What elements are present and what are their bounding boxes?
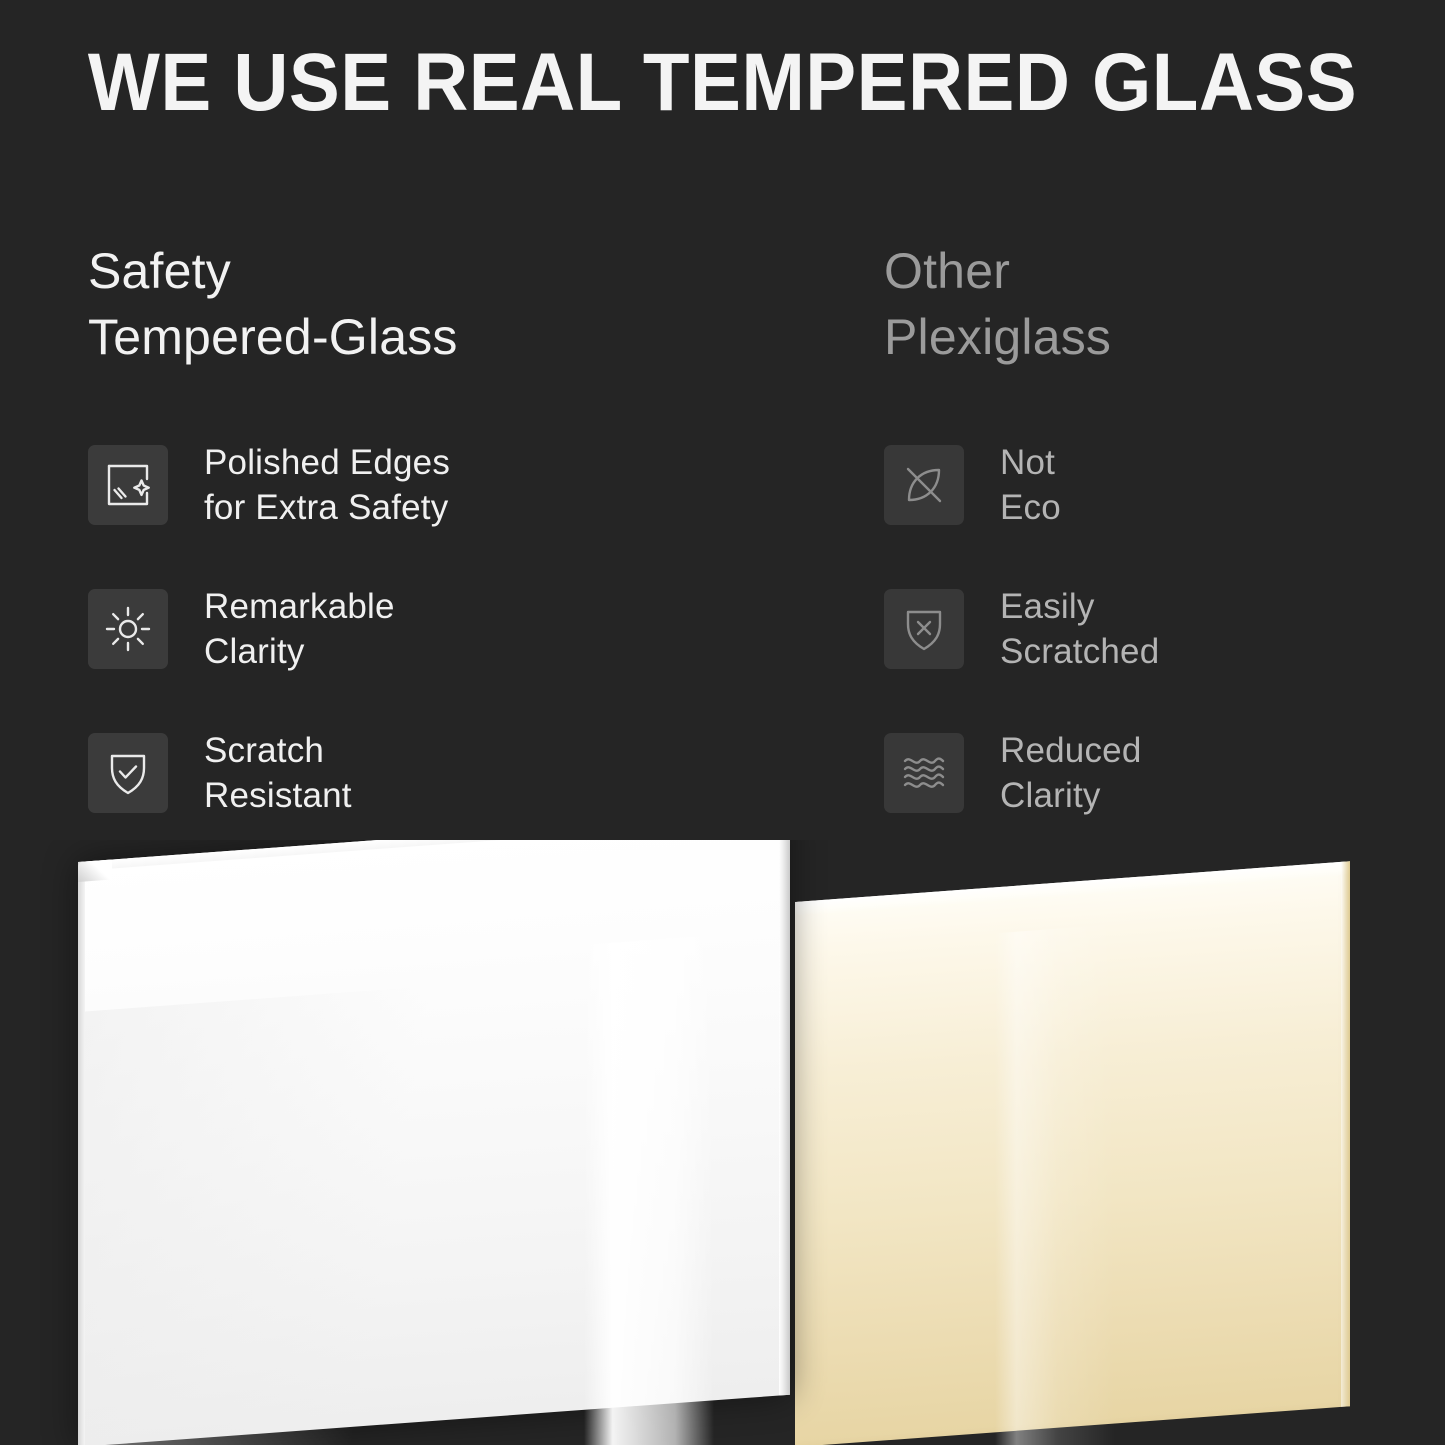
- plexi-reflection: [995, 925, 1115, 1445]
- glass-soft-reflection: [78, 980, 519, 1445]
- feature-list-left: Polished Edges for Extra Safety: [88, 444, 788, 876]
- glass-left-edge: [78, 861, 85, 1445]
- column-heading-left: Safety Tempered-Glass: [88, 238, 788, 370]
- tempered-glass-panel: [78, 840, 790, 1445]
- product-comparison-photo: [0, 840, 1445, 1445]
- glass-top-left-corner: [78, 860, 112, 882]
- feature-label: Not Eco: [1000, 440, 1061, 530]
- feature-label: Easily Scratched: [1000, 584, 1159, 674]
- feature-item: Easily Scratched: [884, 588, 1404, 670]
- page-title: WE USE REAL TEMPERED GLASS: [51, 36, 1395, 130]
- feature-item: Scratch Resistant: [88, 732, 788, 814]
- feature-label: Scratch Resistant: [204, 728, 352, 818]
- glass-right-edge: [779, 840, 790, 1396]
- column-plexiglass: Other Plexiglass Not Eco: [884, 238, 1404, 370]
- feature-item: Polished Edges for Extra Safety: [88, 444, 788, 526]
- feature-label: Polished Edges for Extra Safety: [204, 440, 450, 530]
- wavy-lines-icon: [884, 733, 964, 813]
- polished-glass-pane-sparkle-icon: [88, 445, 168, 525]
- glass-reflection: [584, 935, 714, 1445]
- feature-item: Reduced Clarity: [884, 732, 1404, 814]
- leaf-crossed-out-icon: [884, 445, 964, 525]
- sun-clarity-icon: [88, 589, 168, 669]
- column-heading-right: Other Plexiglass: [884, 238, 1404, 370]
- feature-item: Remarkable Clarity: [88, 588, 788, 670]
- glass-top-edge: [78, 840, 790, 871]
- plexi-top-edge: [795, 861, 1350, 916]
- feature-list-right: Not Eco Easily Scratched: [884, 444, 1404, 876]
- feature-item: Not Eco: [884, 444, 1404, 526]
- shield-check-icon: [88, 733, 168, 813]
- shield-x-icon: [884, 589, 964, 669]
- plexi-right-edge: [1341, 861, 1350, 1407]
- feature-label: Reduced Clarity: [1000, 728, 1142, 818]
- feature-label: Remarkable Clarity: [204, 584, 395, 674]
- infographic-poster: WE USE REAL TEMPERED GLASS Safety Temper…: [0, 0, 1445, 1445]
- plexiglass-panel: [795, 861, 1350, 1445]
- column-tempered-glass: Safety Tempered-Glass Polished Edges for…: [88, 238, 788, 370]
